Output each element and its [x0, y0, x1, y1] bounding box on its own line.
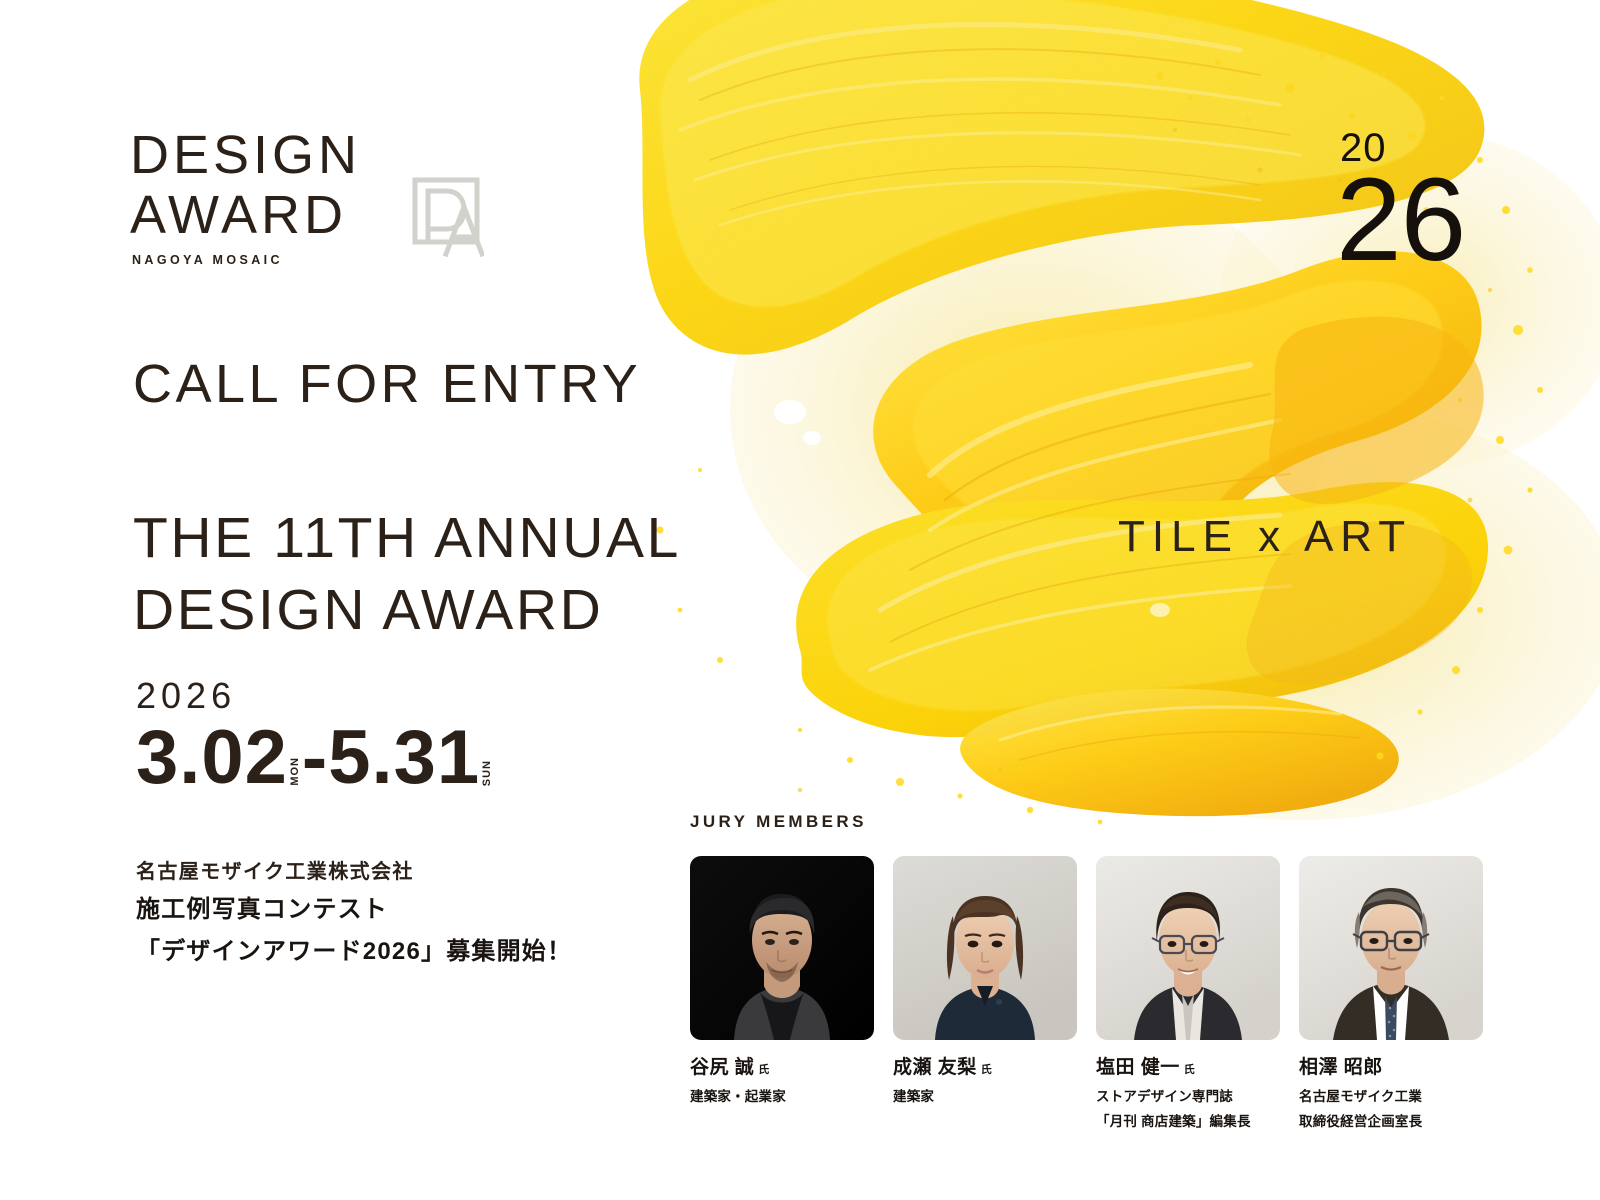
yellow-paint-artwork: [600, 0, 1600, 830]
entry-start-date: 3.02: [136, 718, 288, 798]
jury-section-heading: JURY MEMBERS: [690, 812, 1550, 832]
logo-line-design: DESIGN: [130, 125, 361, 185]
jury-name: 谷尻 誠氏: [690, 1057, 874, 1081]
poster-canvas: DESIGN AWARD NAGOYA MOSAIC CALL FOR ENTR…: [0, 0, 1600, 1200]
tagline-tile-x-art: TILE x ART: [1118, 512, 1412, 562]
entry-end-date: 5.31: [328, 718, 480, 798]
entry-date-separator: -: [302, 718, 328, 798]
jury-role-line1: ストアデザイン専門誌: [1096, 1087, 1280, 1106]
jury-grid: 谷尻 誠氏 建築家・起業家: [690, 856, 1550, 1131]
jury-name-text: 谷尻 誠: [690, 1057, 754, 1078]
entry-start-dayofweek: MON: [290, 757, 301, 786]
jury-name-text: 成瀬 友梨: [893, 1057, 977, 1078]
jury-name: 相澤 昭郎: [1299, 1057, 1483, 1081]
logo-line-award: AWARD: [130, 185, 361, 245]
jury-name: 塩田 健一氏: [1096, 1057, 1280, 1081]
jury-card: 成瀬 友梨氏 建築家: [893, 856, 1077, 1131]
jury-portrait: [1096, 856, 1280, 1040]
main-title: THE 11TH ANNUAL DESIGN AWARD: [133, 502, 681, 646]
jury-portrait: [690, 856, 874, 1040]
jury-name-text: 相澤 昭郎: [1299, 1057, 1383, 1078]
entry-period: 2026 3.02 MON - 5.31 SUN: [136, 676, 494, 798]
jury-honorific: 氏: [1184, 1064, 1196, 1076]
logo-subtitle: NAGOYA MOSAIC: [132, 253, 361, 267]
jury-honorific: 氏: [981, 1064, 993, 1076]
entry-period-range: 3.02 MON - 5.31 SUN: [136, 718, 494, 798]
jury-role-line1: 建築家・起業家: [690, 1087, 874, 1106]
brand-logo: DESIGN AWARD NAGOYA MOSAIC: [130, 125, 361, 267]
entry-period-year: 2026: [136, 676, 494, 716]
year-mark-2026: 20 26: [1340, 128, 1465, 272]
jury-role-line2: 「月刊 商店建築」編集長: [1096, 1112, 1280, 1131]
main-title-line1: THE 11TH ANNUAL: [133, 502, 681, 574]
jury-card: 谷尻 誠氏 建築家・起業家: [690, 856, 874, 1131]
jury-honorific: 氏: [758, 1064, 770, 1076]
jury-role-line1: 名古屋モザイク工業: [1299, 1087, 1483, 1106]
year-mark-suffix: 26: [1336, 168, 1465, 272]
jury-name: 成瀬 友梨氏: [893, 1057, 1077, 1081]
entry-callout: 「デザインアワード2026」募集開始！: [136, 931, 572, 973]
jury-card: 相澤 昭郎 名古屋モザイク工業 取締役経営企画室長: [1299, 856, 1483, 1131]
company-name: 名古屋モザイク工業株式会社: [136, 855, 572, 889]
entry-end-dayofweek: SUN: [482, 760, 493, 786]
jury-name-text: 塩田 健一: [1096, 1057, 1180, 1078]
japanese-copy: 名古屋モザイク工業株式会社 施工例写真コンテスト 「デザインアワード2026」募…: [136, 855, 572, 973]
jury-role-line2: 取締役経営企画室長: [1299, 1112, 1483, 1131]
call-for-entry-heading: CALL FOR ENTRY: [133, 352, 641, 416]
jury-section: JURY MEMBERS: [690, 812, 1550, 1131]
jury-card: 塩田 健一氏 ストアデザイン専門誌 「月刊 商店建築」編集長: [1096, 856, 1280, 1131]
jury-portrait: [893, 856, 1077, 1040]
contest-name: 施工例写真コンテスト: [136, 889, 572, 931]
main-title-line2: DESIGN AWARD: [133, 574, 681, 646]
jury-role-line1: 建築家: [893, 1087, 1077, 1106]
da-monogram-icon: [412, 177, 484, 257]
jury-portrait: [1299, 856, 1483, 1040]
